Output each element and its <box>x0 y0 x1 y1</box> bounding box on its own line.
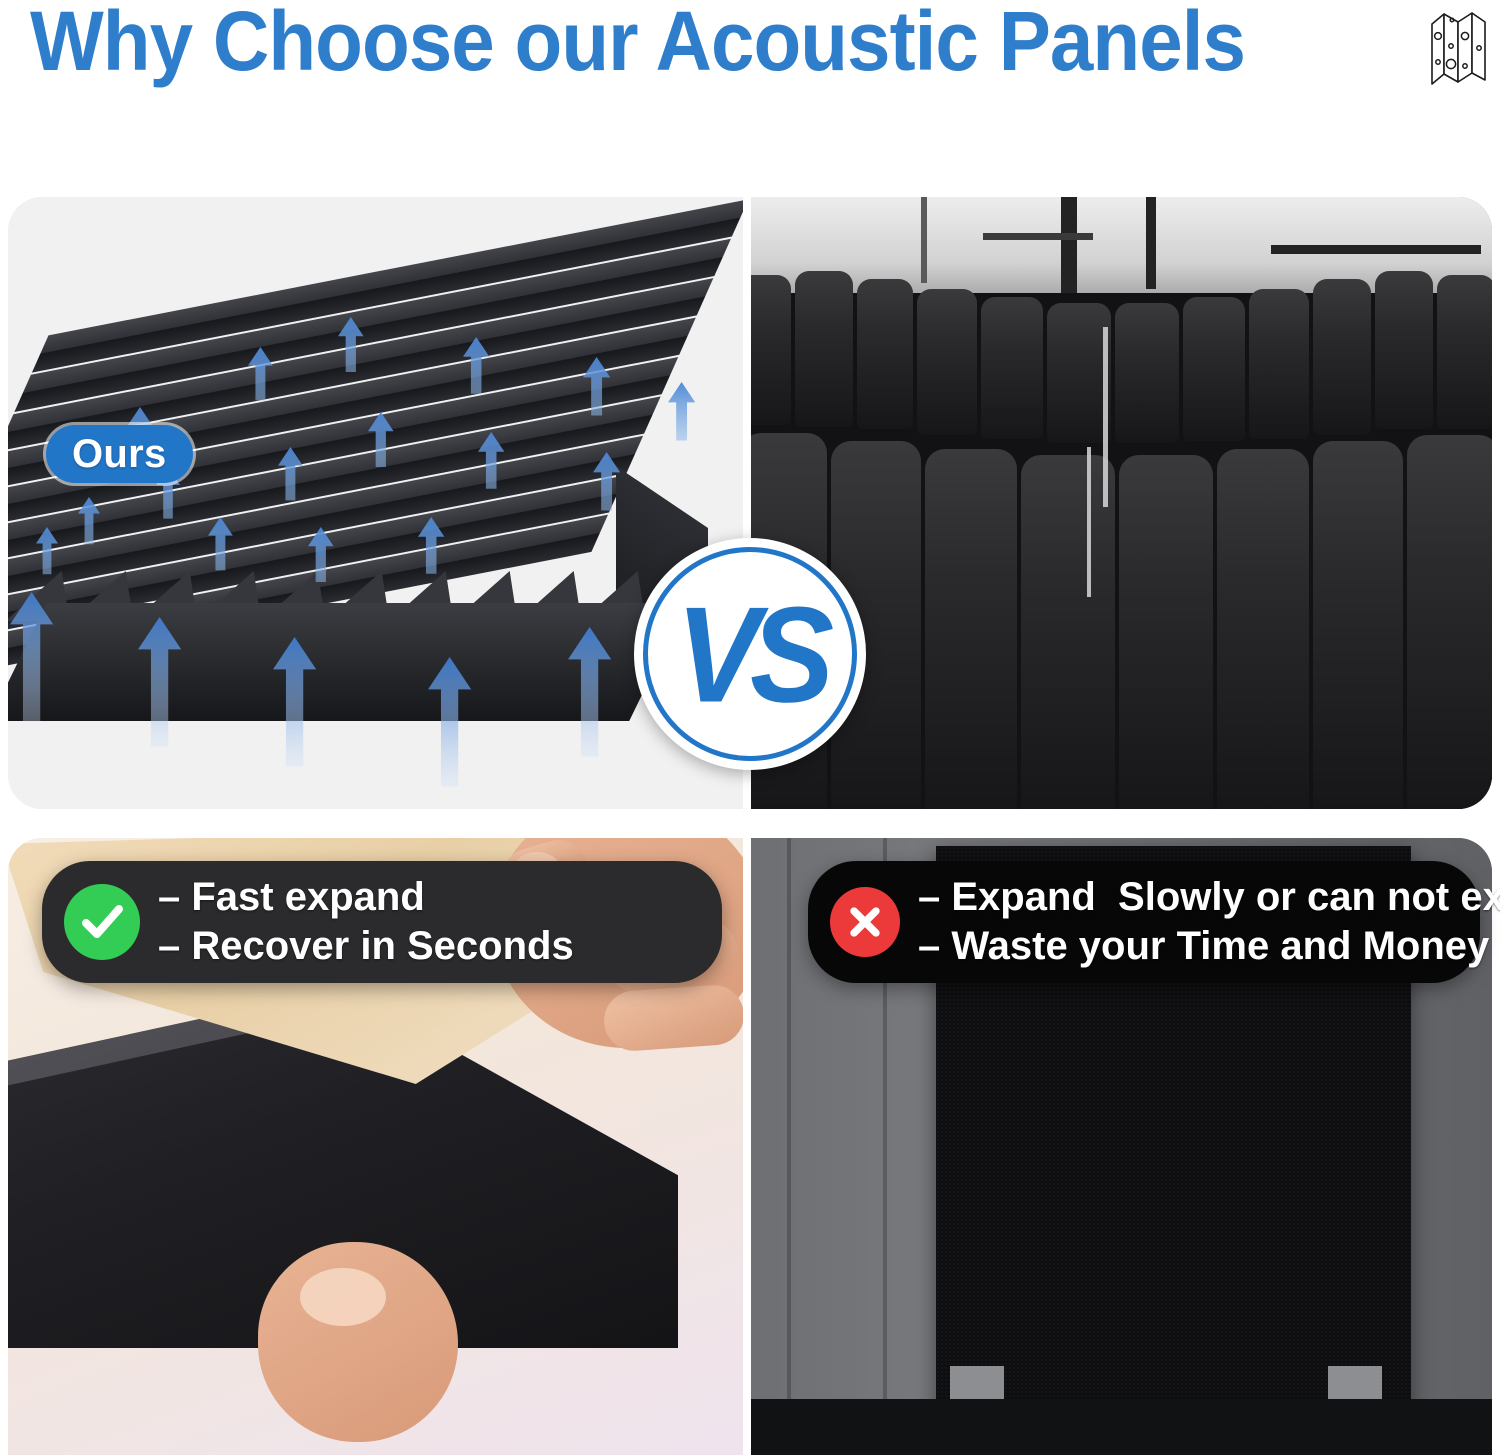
caption-lines: – Fast expand – Recover in Seconds <box>158 873 574 971</box>
caption-lines: – Expand Slowly or can not expand – Wast… <box>918 873 1500 971</box>
caption-line: – Fast expand <box>158 873 574 922</box>
compressed-foam-photo <box>751 197 1492 809</box>
panel-ours-expansion: Ours <box>8 197 743 809</box>
acoustic-panel-icon <box>1428 8 1490 90</box>
page-title: Why Choose our Acoustic Panels <box>30 0 1245 87</box>
comparison-grid: Ours <box>0 190 1500 1455</box>
foam-gap-seam <box>1087 447 1091 597</box>
badge-ours: Ours <box>46 425 193 483</box>
vs-badge: VS <box>634 538 866 770</box>
wall-seam <box>787 838 791 1455</box>
caption-line: – Recover in Seconds <box>158 922 574 971</box>
wedge-foam-photo <box>8 197 743 809</box>
caption-ours-expansion: – Fast expand – Recover in Seconds <box>42 861 722 983</box>
header: Why Choose our Acoustic Panels <box>0 0 1500 190</box>
comparison-row-expansion: Ours <box>0 197 1500 809</box>
x-icon <box>830 887 900 957</box>
infographic-page: Why Choose our Acoustic Panels <box>0 0 1500 1455</box>
foam-gap-seam <box>1103 327 1108 507</box>
caption-other-expansion: – Expand Slowly or can not expand – Wast… <box>808 861 1480 983</box>
check-icon <box>64 884 140 960</box>
shelf-edge <box>751 1399 1492 1455</box>
panel-other-expansion: Other <box>751 197 1492 809</box>
caption-line: – Waste your Time and Money <box>918 922 1500 971</box>
caption-line: – Expand Slowly or can not expand <box>918 873 1500 922</box>
vs-label: VS <box>676 576 824 733</box>
